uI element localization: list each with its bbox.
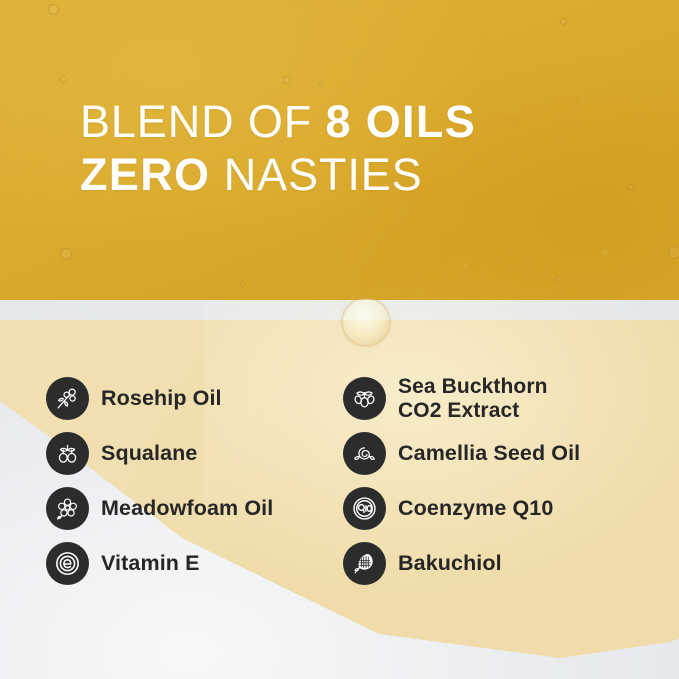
headline: BLEND OF 8 OILS ZERO NASTIES (80, 98, 476, 199)
ingredient-list: Rosehip Oil Squalane (0, 371, 679, 596)
ingredient-label: Meadowfoam Oil (101, 496, 273, 520)
list-item[interactable]: Meadowfoam Oil (46, 481, 346, 536)
headline-line-1: BLEND OF 8 OILS (80, 98, 476, 145)
q10-badge-icon (343, 487, 386, 530)
olive-branch-icon (46, 432, 89, 475)
ingredient-label: Camellia Seed Oil (398, 441, 580, 465)
rosehip-berries-icon (46, 377, 89, 420)
headline-line-1-bold: 8 OILS (325, 96, 476, 147)
list-item[interactable]: Vitamin E (46, 536, 346, 591)
ingredient-label: Sea Buckthorn CO2 Extract (398, 375, 548, 422)
headline-line-2-bold: ZERO (80, 149, 210, 200)
list-item[interactable]: Rosehip Oil (46, 371, 346, 426)
ingredient-label: Squalane (101, 441, 197, 465)
ingredient-label: Vitamin E (101, 551, 200, 575)
list-item[interactable]: Bakuchiol (343, 536, 643, 591)
ingredient-column-right: Sea Buckthorn CO2 Extract Camellia Seed … (343, 371, 643, 591)
list-item[interactable]: Sea Buckthorn CO2 Extract (343, 371, 643, 426)
headline-line-2-light: NASTIES (210, 149, 422, 200)
product-feature-poster: BLEND OF 8 OILS ZERO NASTIES (0, 0, 679, 679)
camellia-rose-icon (343, 432, 386, 475)
ingredient-column-left: Rosehip Oil Squalane (46, 371, 346, 591)
headline-line-2: ZERO NASTIES (80, 151, 476, 198)
ingredient-label: Rosehip Oil (101, 386, 222, 410)
list-item[interactable]: Squalane (46, 426, 346, 481)
list-item[interactable]: Coenzyme Q10 (343, 481, 643, 536)
meadowfoam-flower-icon (46, 487, 89, 530)
sea-buckthorn-berries-icon (343, 377, 386, 420)
ingredient-label: Coenzyme Q10 (398, 496, 553, 520)
headline-line-1-light: BLEND OF (80, 96, 325, 147)
ingredient-label: Bakuchiol (398, 551, 502, 575)
list-item[interactable]: Camellia Seed Oil (343, 426, 643, 481)
vitamin-e-circle-icon (46, 542, 89, 585)
bakuchiol-leaf-icon (343, 542, 386, 585)
